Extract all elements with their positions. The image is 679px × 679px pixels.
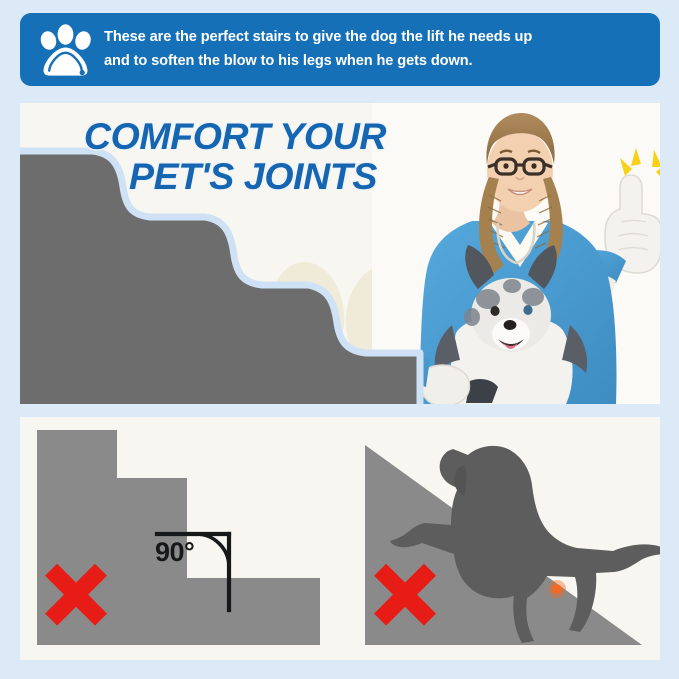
headline-banner: These are the perfect stairs to give the…: [20, 13, 660, 86]
banner-text: These are the perfect stairs to give the…: [104, 26, 532, 73]
paw-print-icon: [36, 23, 96, 77]
joint-pain-indicator: [548, 580, 566, 598]
comparison-panel: 90°: [20, 417, 660, 660]
hero-panel: COMFORT YOUR PET'S JOINTS: [20, 103, 660, 404]
banner-text-line-2: and to soften the blow to his legs when …: [104, 50, 532, 74]
hero-graphics: [20, 103, 660, 404]
banner-text-line-1: These are the perfect stairs to give the…: [104, 26, 532, 50]
infographic-root: These are the perfect stairs to give the…: [0, 0, 679, 679]
comparison-graphics: [20, 417, 660, 660]
